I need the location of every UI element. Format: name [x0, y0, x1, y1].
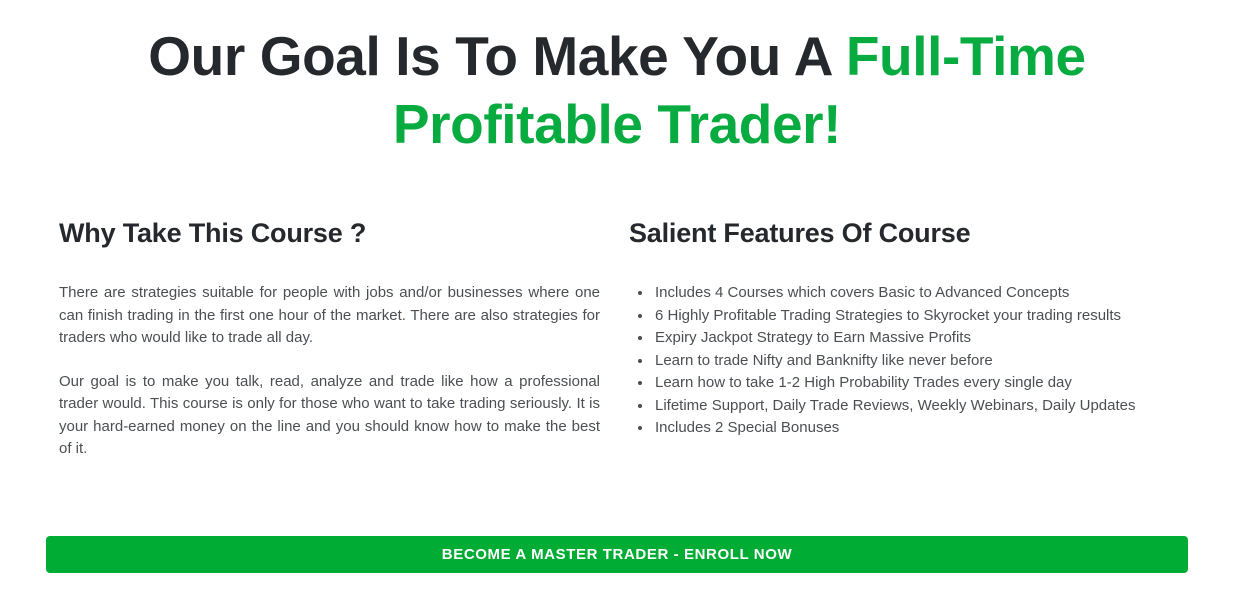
list-item-label: Learn to trade Nifty and Banknifty like …	[655, 352, 993, 369]
salient-features-list: Includes 4 Courses which covers Basic to…	[629, 282, 1149, 440]
list-item: Learn how to take 1-2 High Probability T…	[629, 372, 1149, 395]
list-item-label: Includes 2 Special Bonuses	[655, 419, 839, 436]
bullet-icon	[638, 314, 642, 318]
why-take-course-paragraph-2: Our goal is to make you talk, read, anal…	[59, 371, 600, 461]
content-columns: Why Take This Course ? There are strateg…	[0, 216, 1234, 461]
why-take-course-column: Why Take This Course ? There are strateg…	[0, 216, 600, 461]
hero-section: Our Goal Is To Make You A Full-Time Prof…	[0, 0, 1234, 158]
bullet-icon	[638, 291, 642, 295]
list-item: 6 Highly Profitable Trading Strategies t…	[629, 305, 1149, 328]
list-item: Expiry Jackpot Strategy to Earn Massive …	[629, 327, 1149, 350]
list-item-label: Expiry Jackpot Strategy to Earn Massive …	[655, 329, 971, 346]
list-item: Includes 4 Courses which covers Basic to…	[629, 282, 1149, 305]
salient-features-heading: Salient Features Of Course	[629, 216, 1165, 250]
enroll-now-button[interactable]: BECOME A MASTER TRADER - ENROLL NOW	[46, 536, 1188, 573]
list-item-label: Learn how to take 1-2 High Probability T…	[655, 374, 1072, 391]
why-take-course-paragraph-1: There are strategies suitable for people…	[59, 282, 600, 350]
salient-features-column: Salient Features Of Course Includes 4 Co…	[600, 216, 1205, 440]
list-item: Lifetime Support, Daily Trade Reviews, W…	[629, 395, 1149, 418]
why-take-course-heading: Why Take This Course ?	[59, 216, 600, 250]
bullet-icon	[638, 404, 642, 408]
list-item-label: Lifetime Support, Daily Trade Reviews, W…	[655, 397, 1135, 414]
bullet-icon	[638, 381, 642, 385]
page-title-plain: Our Goal Is To Make You A	[148, 25, 846, 87]
cta-container: BECOME A MASTER TRADER - ENROLL NOW	[46, 536, 1188, 573]
list-item: Learn to trade Nifty and Banknifty like …	[629, 350, 1149, 373]
list-item: Includes 2 Special Bonuses	[629, 417, 1149, 440]
bullet-icon	[638, 426, 642, 430]
bullet-icon	[638, 336, 642, 340]
page-title: Our Goal Is To Make You A Full-Time Prof…	[0, 22, 1234, 158]
bullet-icon	[638, 359, 642, 363]
list-item-label: Includes 4 Courses which covers Basic to…	[655, 284, 1069, 301]
list-item-label: 6 Highly Profitable Trading Strategies t…	[655, 307, 1121, 324]
